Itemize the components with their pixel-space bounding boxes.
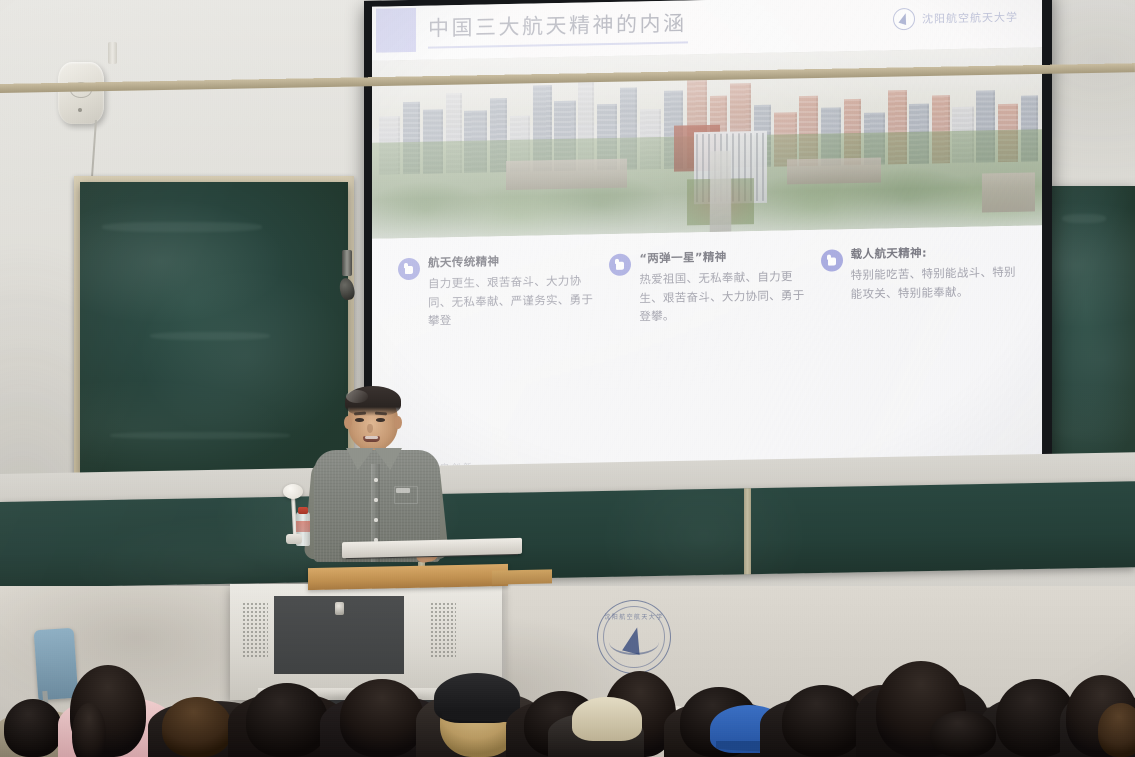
campus-side-building [506,159,627,190]
audience-head [246,683,328,757]
empty-chair [34,628,79,701]
shirt-pocket-tag [396,488,410,493]
slide-column: 载人航天精神: 特别能吃苦、特别能战斗、特别能攻关、特别能奉献。 [821,244,1016,482]
presenter-ear [394,416,402,429]
column-body: 热爱祖国、无私奉献、自力更生、艰苦奋斗、大力协同、勇于登攀。 [639,267,804,326]
slide-column: “两弹一星”精神 热爱祖国、无私奉献、自力更生、艰苦奋斗、大力协同、勇于登攀。 [609,248,804,486]
slide-columns: 航天传统精神 自力更生、艰苦奋斗、大力协同、无私奉献、严谨务实、勇于攀登 “两弹… [372,225,1042,490]
ceiling-speaker-icon [58,62,104,124]
audience-head [1098,703,1135,757]
university-logo-icon [893,8,915,30]
chalk-streak [102,222,262,232]
bottle-label [296,521,310,532]
blackboard-left [80,182,348,498]
bottle-cap [298,507,308,514]
lecture-hall-photo: 中国三大航天精神的内涵 沈阳航空航天大学 [0,0,1135,757]
column-body: 自力更生、艰苦奋斗、大力协同、无私奉献、严谨务实、勇于攀登 [428,271,593,330]
presenter-eye [376,418,385,422]
wall-clip [108,42,117,64]
slide-logo: 沈阳航空航天大学 [893,6,1018,31]
shirt-button [374,518,378,522]
thumbs-up-icon [609,254,631,276]
chalk-streak [1062,214,1106,223]
presenter-ear [344,416,352,429]
column-heading: 航天传统精神 [428,252,593,270]
chalk-streak [150,332,270,340]
beige-cap-icon [572,697,642,741]
header-accent-square [376,8,416,53]
thumbs-up-icon [821,249,843,271]
chalk-streak [110,432,290,439]
presenter-eye [355,418,364,422]
lectern-wood-trim [308,564,508,590]
title-underline [428,41,688,48]
presenter-hair-grey [346,390,368,403]
audience-head [162,697,232,757]
shirt-button [374,498,378,502]
audience-head [782,685,864,757]
campus-side-building [787,157,881,184]
microphone-base [286,534,302,544]
campus-side-building [982,172,1036,212]
audience-head [340,679,424,757]
campus-avenue [710,151,732,233]
column-heading: 载人航天精神: [851,244,1016,262]
screen-mount-clip [342,250,352,276]
speaker-indicator-dot [78,108,82,112]
audience [0,612,1135,757]
slide-title: 中国三大航天精神的内涵 [428,7,687,42]
column-heading: “两弹一星”精神 [639,248,804,266]
thumbs-up-icon [398,258,420,280]
presenter [312,382,442,562]
presenter-nose [367,424,373,433]
blackboard-divider [744,488,751,574]
lectern-wood-trim-right [492,569,552,584]
audience-ponytail [72,703,106,757]
shirt-button [374,478,378,482]
column-body: 特别能吃苦、特别能战斗、特别能攻关、特别能奉献。 [851,263,1016,304]
audience-head [930,711,996,757]
microphone-head [283,484,303,499]
presenter-mouth [363,436,380,442]
audience-head [4,699,62,757]
university-logo-text: 沈阳航空航天大学 [922,9,1018,27]
